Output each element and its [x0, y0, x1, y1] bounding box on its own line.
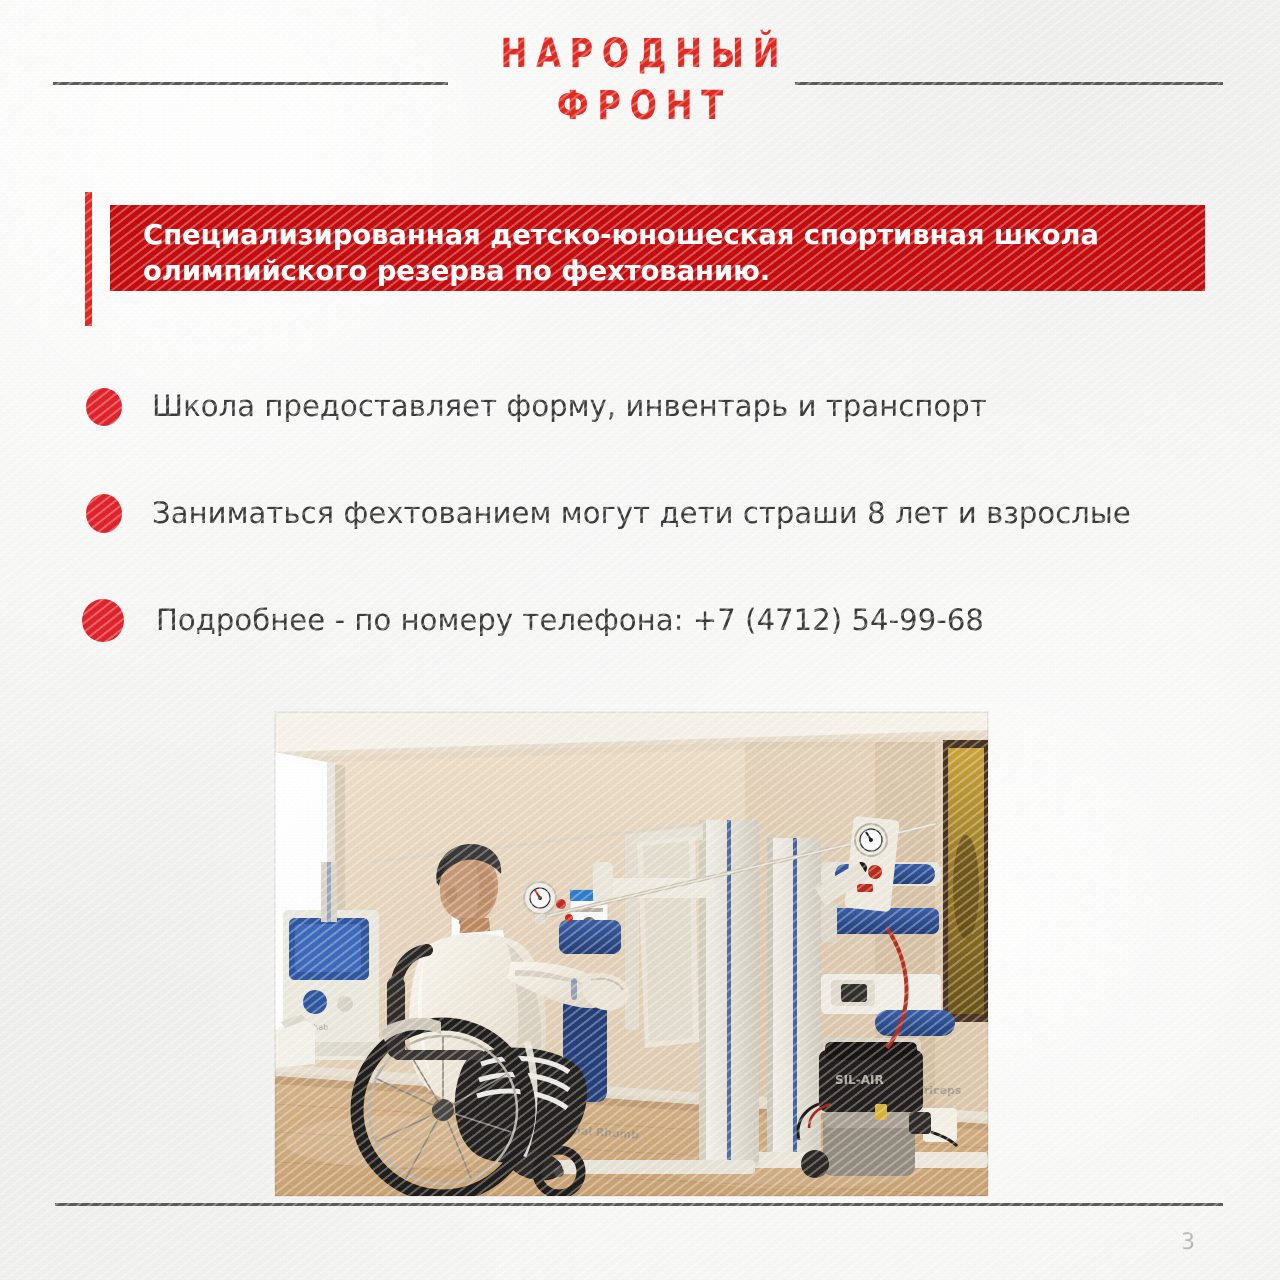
bullet-list: Школа предоставляет форму, инвентарь и т… [0, 368, 1280, 689]
bullet-dot-icon [86, 388, 122, 426]
slide-canvas: НАРОДНЫЙ ФРОНТ Специализированная детско… [0, 0, 1280, 1280]
logo-line-1: НАРОДНЫЙ [128, 34, 1152, 74]
bullet-label: Школа предоставляет форму, инвентарь и т… [152, 392, 987, 421]
bullet-dot-icon [86, 494, 122, 533]
slide-header: НАРОДНЫЙ ФРОНТ [0, 0, 1280, 160]
title-text: Специализированная детско-юношеская спор… [143, 217, 1185, 290]
title-block: Специализированная детско-юношеская спор… [85, 192, 1207, 326]
title-accent-bar [85, 192, 92, 326]
list-item: Заниматься фехтованием могут дети страши… [0, 475, 1280, 582]
slide-photo: Rehab [275, 712, 988, 1196]
narodny-front-logo: НАРОДНЫЙ ФРОНТ [0, 34, 1280, 126]
list-item: Школа предоставляет форму, инвентарь и т… [0, 368, 1280, 475]
footer-rule [55, 1203, 1223, 1206]
logo-line-2: ФРОНТ [128, 86, 1152, 126]
bullet-dot-icon [82, 599, 124, 642]
title-banner: Специализированная детско-юношеская спор… [110, 205, 1205, 291]
list-item: Подробнее - по номеру телефона: +7 (4712… [0, 582, 1280, 689]
page-number: 3 [1160, 1232, 1216, 1254]
bullet-label: Заниматься фехтованием могут дети страши… [152, 499, 1131, 528]
photo-illustration: Rehab [275, 712, 988, 1196]
bullet-label-phone: Подробнее - по номеру телефона: +7 (4712… [156, 606, 984, 635]
